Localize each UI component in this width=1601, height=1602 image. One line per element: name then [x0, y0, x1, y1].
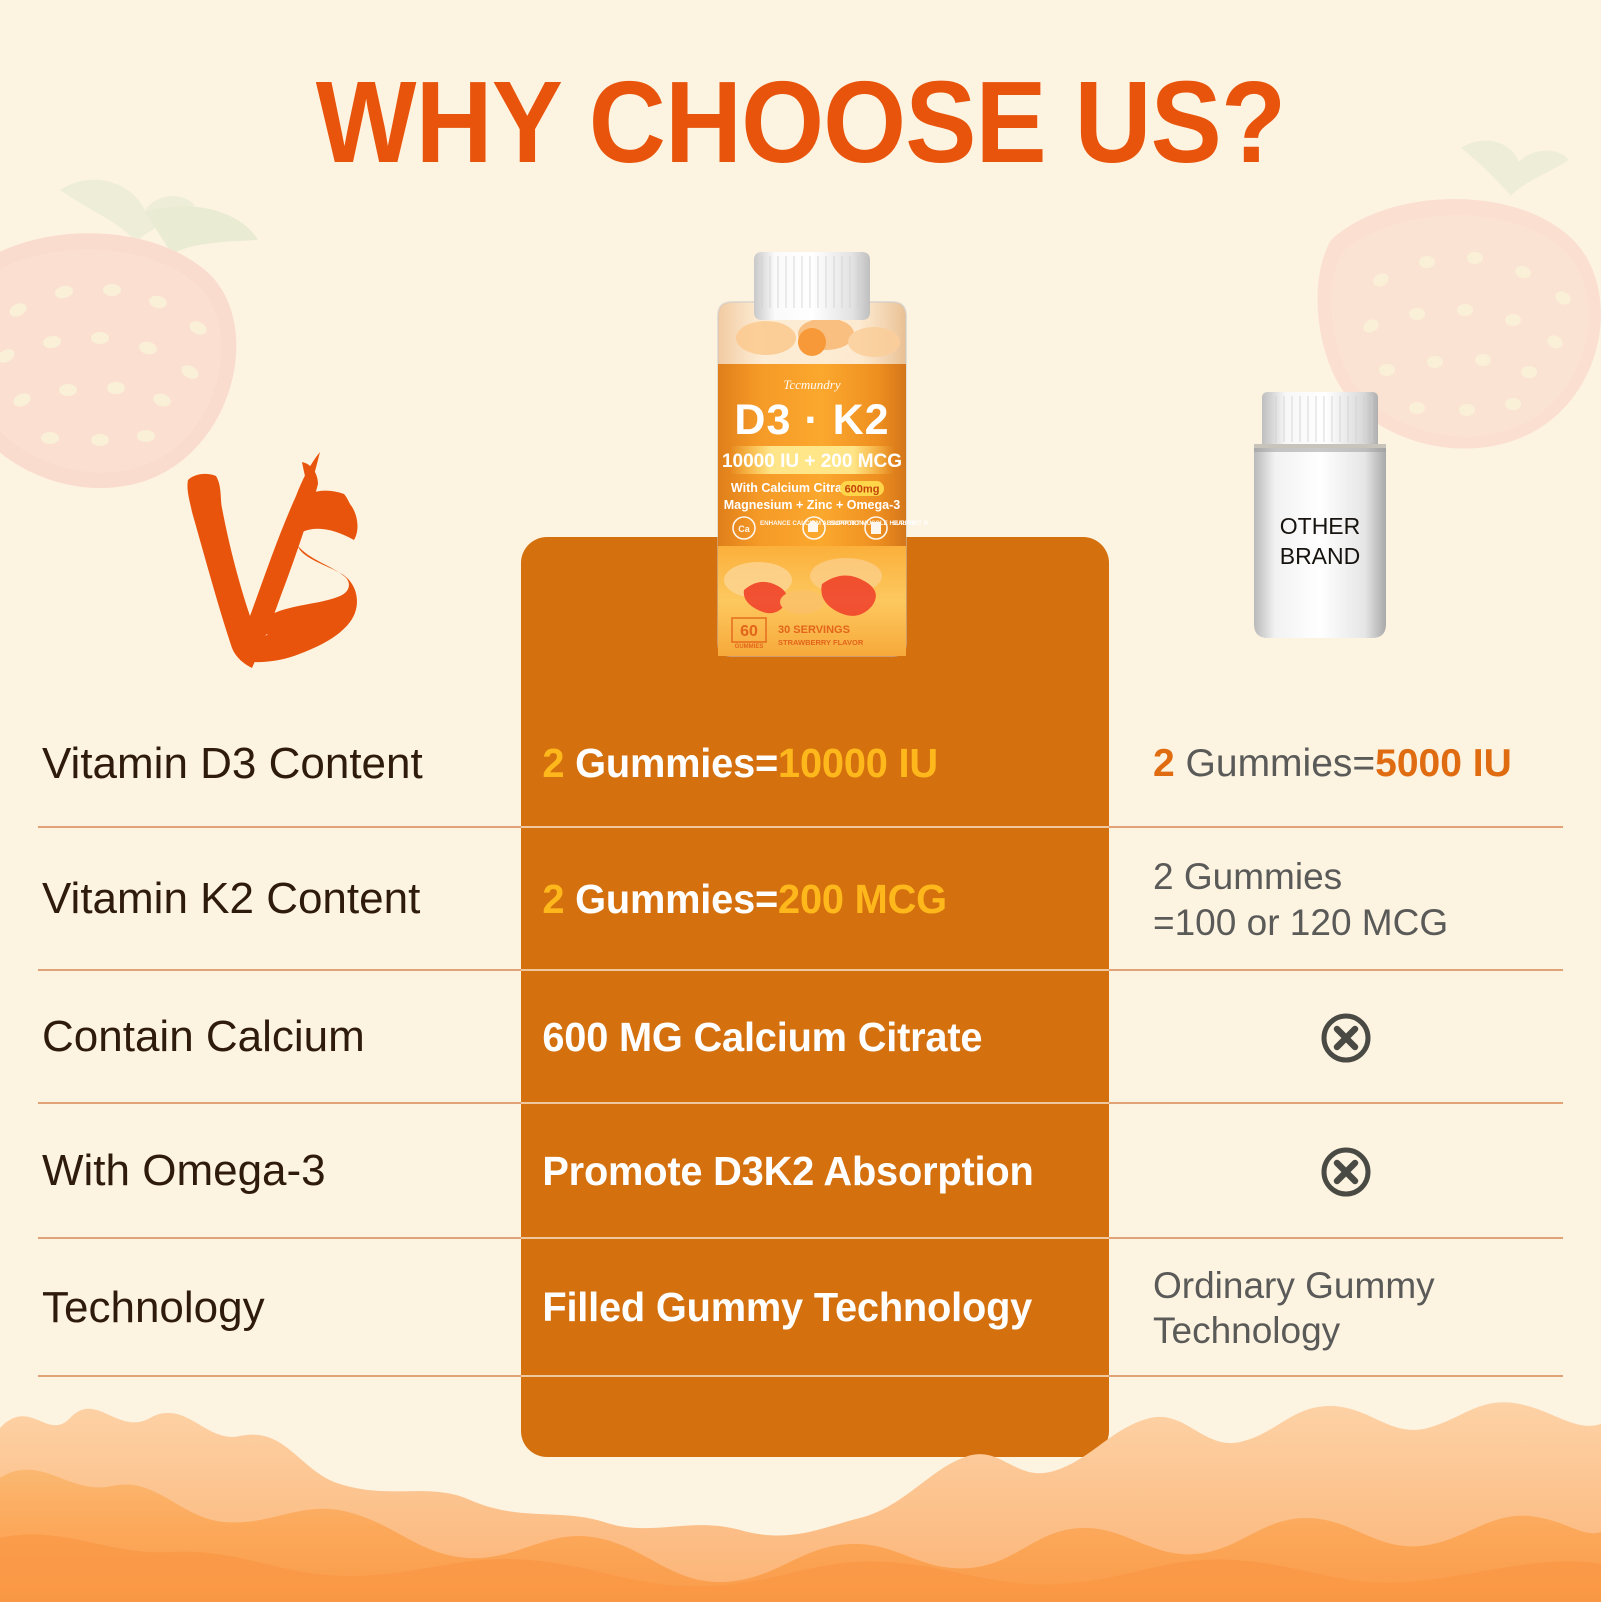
- ours-value: 10000 IU: [778, 740, 938, 786]
- other-brand-line1: OTHER: [1280, 513, 1361, 539]
- row-ours-value: 2 Gummies=200 MCG: [521, 877, 1091, 922]
- bottle-servings: 30 SERVINGS: [778, 624, 850, 636]
- bottle-flavor: STRAWBERRY FLAVOR: [778, 638, 864, 647]
- theirs-prefix-num: 2: [1153, 742, 1175, 785]
- table-row: Contain Calcium 600 MG Calcium Citrate: [0, 971, 1601, 1104]
- table-row: Vitamin K2 Content 2 Gummies=200 MCG 2 G…: [0, 828, 1601, 971]
- infographic-canvas: WHY CHOOSE US?: [0, 0, 1601, 1602]
- row-ours-value: Filled Gummy Technology: [521, 1285, 1091, 1330]
- theirs-line1: 2 Gummies: [1153, 854, 1583, 899]
- circle-x-icon: [1319, 1145, 1373, 1199]
- theirs-line1: Ordinary Gummy: [1153, 1263, 1583, 1308]
- versus-mark: [160, 438, 390, 693]
- bottle-product-name: D3 · K2: [734, 396, 889, 444]
- theirs-middle: Gummies=: [1175, 742, 1375, 785]
- bottle-dosage: 10000 IU + 200 MCG: [722, 451, 902, 472]
- table-row: With Omega-3 Promote D3K2 Absorption: [0, 1104, 1601, 1239]
- product-bottle-other: OTHER BRAND: [1240, 392, 1400, 642]
- benefit-label-3: SUPPORT IMMUNE SYSTEM: [892, 520, 928, 527]
- ours-value: 200 MCG: [778, 876, 947, 922]
- row-theirs-value: Ordinary Gummy Technology: [1109, 1263, 1601, 1353]
- ours-prefix-num: 2: [542, 876, 564, 922]
- ours-middle: Gummies=: [564, 740, 778, 786]
- row-theirs-value: 2 Gummies=5000 IU: [1109, 740, 1601, 788]
- row-divider-inner: [521, 1375, 1109, 1377]
- comparison-table: Vitamin D3 Content 2 Gummies=10000 IU 2 …: [0, 700, 1601, 1377]
- row-feature-label: Vitamin K2 Content: [0, 875, 521, 923]
- page-title: WHY CHOOSE US?: [64, 64, 1537, 180]
- theirs-value: 5000 IU: [1375, 742, 1512, 785]
- row-theirs-value: 2 Gummies =100 or 120 MCG: [1109, 854, 1601, 944]
- circle-x-icon: [1319, 1011, 1373, 1065]
- immune-icon: [871, 522, 881, 534]
- row-theirs-value: [1109, 1011, 1601, 1065]
- theirs-line2: Technology: [1153, 1308, 1583, 1353]
- row-ours-value: 600 MG Calcium Citrate: [521, 1015, 1091, 1060]
- row-ours-value: 2 Gummies=10000 IU: [521, 741, 1091, 786]
- ours-middle: Gummies=: [564, 876, 778, 922]
- bottle-calcium-line: With Calcium Citrate: [731, 481, 853, 495]
- bottle-brand: Tccmundry: [783, 377, 841, 392]
- theirs-line2: =100 or 120 MCG: [1153, 900, 1583, 945]
- other-brand-line2: BRAND: [1280, 543, 1361, 569]
- table-row: Technology Filled Gummy Technology Ordin…: [0, 1239, 1601, 1377]
- bottle-extras-line: Magnesium + Zinc + Omega-3: [724, 498, 900, 512]
- row-feature-label: Technology: [0, 1284, 521, 1332]
- row-theirs-value: [1109, 1145, 1601, 1199]
- row-feature-label: With Omega-3: [0, 1147, 521, 1195]
- row-feature-label: Vitamin D3 Content: [0, 740, 521, 788]
- calcium-icon: Ca: [738, 524, 750, 534]
- table-row: Vitamin D3 Content 2 Gummies=10000 IU 2 …: [0, 700, 1601, 828]
- row-ours-value: Promote D3K2 Absorption: [521, 1149, 1091, 1194]
- bottle-count-unit: GUMMIES: [735, 644, 764, 650]
- bottle-count: 60: [740, 623, 758, 640]
- product-bottle-ours: Tccmundry D3 · K2 10000 IU + 200 MCG Wit…: [696, 250, 928, 665]
- bottle-calcium-badge: 600mg: [845, 484, 880, 496]
- ours-prefix-num: 2: [542, 740, 564, 786]
- row-feature-label: Contain Calcium: [0, 1013, 521, 1061]
